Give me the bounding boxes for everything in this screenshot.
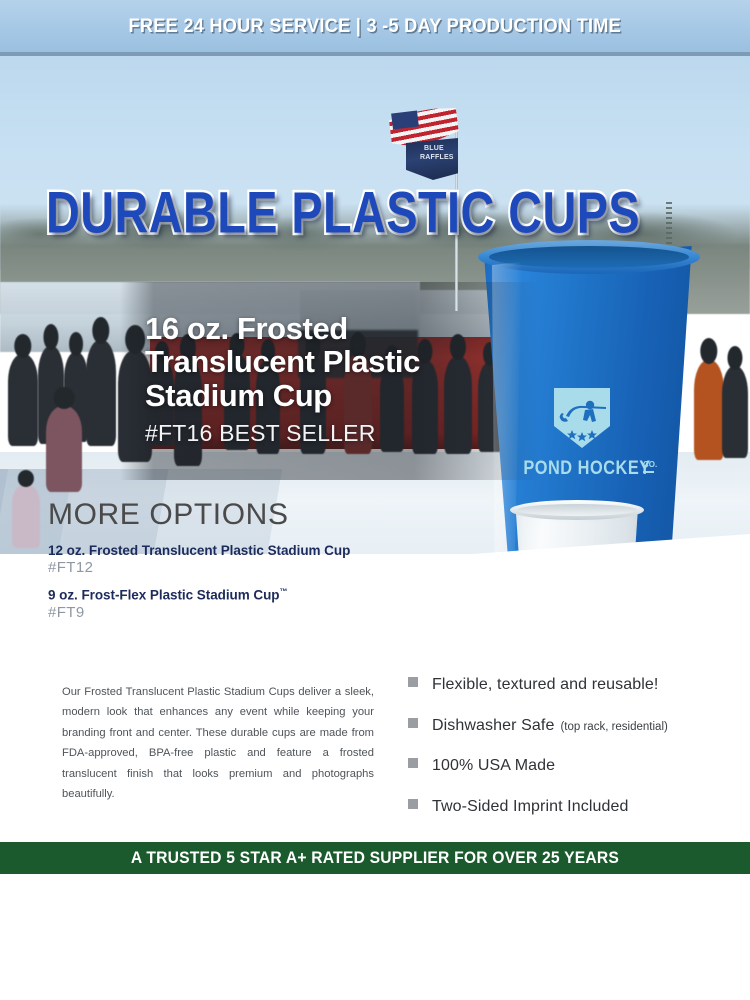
footer-trust-banner-text: A TRUSTED 5 STAR A+ RATED SUPPLIER FOR O… — [131, 849, 619, 868]
bird-dog-cup-rim-inner — [517, 504, 637, 516]
crowd-person — [722, 366, 748, 458]
feature-note: (top rack, residential) — [560, 721, 667, 733]
footer-whitespace — [0, 874, 750, 1000]
crowd-person — [12, 484, 40, 548]
top-promo-banner-text: FREE 24 HOUR SERVICE | 3 -5 DAY PRODUCTI… — [129, 15, 621, 38]
footer-trust-banner: A TRUSTED 5 STAR A+ RATED SUPPLIER FOR O… — [0, 842, 750, 874]
pond-hockey-logo-text: POND HOCKEY — [523, 458, 652, 480]
feature-label: Flexible, textured and reusable! — [432, 676, 658, 694]
crowd-person — [86, 340, 116, 446]
top-promo-banner: FREE 24 HOUR SERVICE | 3 -5 DAY PRODUCTI… — [0, 0, 750, 52]
headline-line-2: Translucent Plastic — [145, 344, 420, 379]
feature-list: Flexible, textured and reusable! Dishwas… — [408, 676, 738, 838]
list-item[interactable]: 9 oz. Frost-Flex Plastic Stadium Cup™ #F… — [48, 587, 468, 621]
more-options-section: MORE OPTIONS 12 oz. Frosted Translucent … — [48, 498, 468, 621]
feature-label: Dishwasher Safe — [432, 717, 554, 735]
feature-label: 100% USA Made — [432, 757, 555, 775]
feature-label: Two-Sided Imprint Included — [432, 798, 628, 816]
status-badge: #FT16 BEST SELLER — [145, 420, 535, 447]
square-bullet-icon — [408, 799, 418, 809]
american-flag-canton — [391, 110, 419, 129]
top-banner-divider — [0, 52, 750, 56]
product-headline-block: 16 oz. FrostedTranslucent PlasticStadium… — [145, 312, 535, 447]
crowd-person — [694, 360, 724, 460]
more-options-item-name: 12 oz. Frosted Translucent Plastic Stadi… — [48, 543, 468, 558]
more-options-item-sku: #FT12 — [48, 559, 468, 576]
list-item[interactable]: 12 oz. Frosted Translucent Plastic Stadi… — [48, 543, 468, 576]
more-options-heading: MORE OPTIONS — [48, 498, 468, 532]
more-options-item-sku: #FT9 — [48, 604, 468, 621]
list-item: Two-Sided Imprint Included — [408, 798, 738, 816]
event-banner-flag-line2: RAFFLES — [420, 154, 454, 161]
product-description: Our Frosted Translucent Plastic Stadium … — [62, 682, 374, 804]
event-banner-flag-line1: BLUE — [424, 145, 444, 152]
list-item: 100% USA Made — [408, 757, 738, 775]
brand-title: DURABLE PLASTIC CUPS — [46, 180, 640, 247]
hero-photo: BLUE RAFFLES POND HOCKEY CO. — [0, 54, 750, 554]
crowd-person — [8, 354, 38, 446]
headline-line-3: Stadium Cup — [145, 378, 332, 413]
more-options-item-label: 9 oz. Frost-Flex Plastic Stadium Cup — [48, 588, 280, 603]
list-item: Flexible, textured and reusable! — [408, 676, 738, 694]
list-item: Dishwasher Safe (top rack, residential) — [408, 717, 738, 735]
square-bullet-icon — [408, 677, 418, 687]
pond-hockey-logo-suffix: CO. — [643, 460, 657, 469]
headline-line-1: 16 oz. Frosted — [145, 311, 348, 346]
product-flyer-page: FREE 24 HOUR SERVICE | 3 -5 DAY PRODUCTI… — [0, 0, 750, 1000]
more-options-item-label: 12 oz. Frosted Translucent Plastic Stadi… — [48, 543, 350, 558]
hockey-shield-icon — [552, 386, 612, 450]
square-bullet-icon — [408, 758, 418, 768]
trademark-symbol: ™ — [280, 587, 288, 596]
page-title: 16 oz. FrostedTranslucent PlasticStadium… — [145, 312, 535, 412]
crowd-person — [46, 406, 82, 492]
pond-hockey-logo-rule — [643, 471, 654, 473]
more-options-item-name: 9 oz. Frost-Flex Plastic Stadium Cup™ — [48, 587, 468, 603]
square-bullet-icon — [408, 718, 418, 728]
